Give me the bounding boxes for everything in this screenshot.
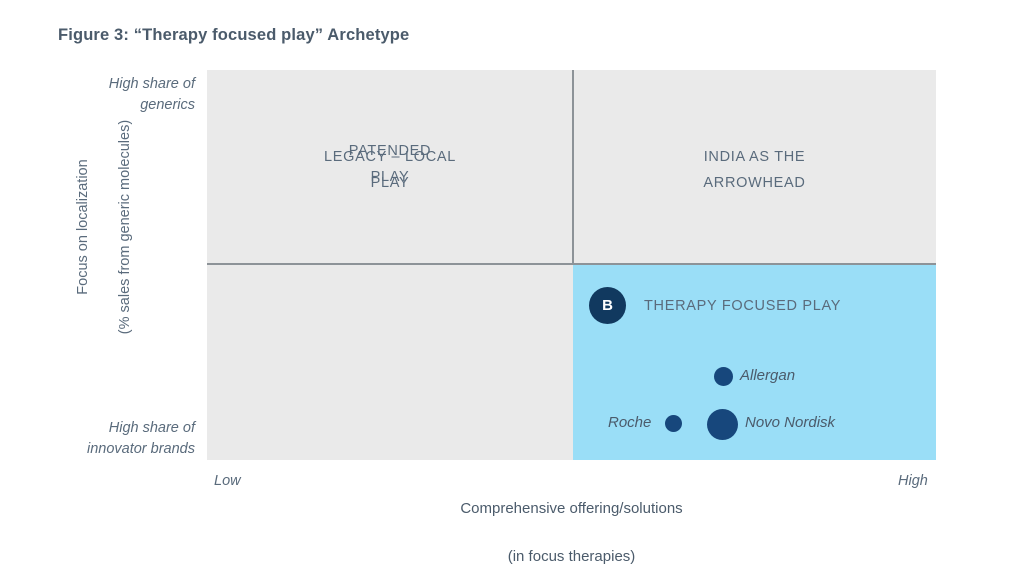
quadrant-label-therapy-focused-play: THERAPY FOCUSED PLAY bbox=[644, 298, 841, 314]
quadrant-label-patended-play: PATENDED PLAY bbox=[207, 138, 573, 190]
y-axis-low-label: High share of innovator brands bbox=[55, 418, 195, 460]
data-point-label-allergan: Allergan bbox=[740, 367, 795, 384]
quadrant-divider-horizontal bbox=[207, 263, 936, 265]
y-axis-title-line2: (% sales from generic molecules) bbox=[117, 120, 133, 334]
data-point-label-roche: Roche bbox=[608, 414, 651, 431]
x-axis-title: Comprehensive offering/solutions (in foc… bbox=[207, 473, 936, 569]
data-point-label-novo-nordisk: Novo Nordisk bbox=[745, 414, 835, 431]
data-point-novo-nordisk bbox=[707, 409, 738, 440]
chart-plot-area: LEGACY – LOCAL PLAY INDIA AS THE ARROWHE… bbox=[207, 70, 936, 460]
archetype-badge-b: B bbox=[589, 287, 626, 324]
quadrant-label-india-as-the-arrowhead: INDIA AS THE ARROWHEAD bbox=[573, 144, 936, 196]
page-title: Figure 3: “Therapy focused play” Archety… bbox=[58, 26, 409, 45]
x-axis-title-line2: (in focus therapies) bbox=[508, 548, 636, 565]
data-point-roche bbox=[665, 415, 682, 432]
y-axis-title-line1: Focus on localization bbox=[75, 159, 91, 294]
data-point-allergan bbox=[714, 367, 733, 386]
quadrant-bottom-left bbox=[207, 264, 573, 460]
y-axis-title: Focus on localization (% sales from gene… bbox=[52, 67, 136, 387]
x-axis-title-line1: Comprehensive offering/solutions bbox=[460, 500, 682, 517]
